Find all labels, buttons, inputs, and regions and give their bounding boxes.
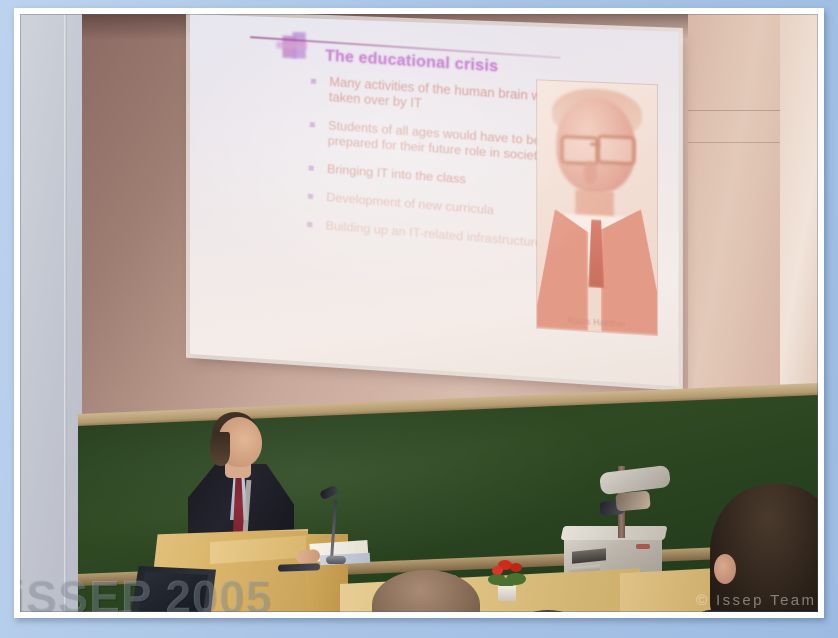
bullet-marker-icon [310,122,315,127]
wall-left [20,14,82,612]
audience-shoulder [692,610,818,612]
bullet-text: Development of new curricula [326,190,494,217]
slide-logo-icon [276,31,311,63]
marker-pen [278,563,320,571]
audience-ear [714,554,736,584]
photograph: The educational crisis Many activities o… [20,14,818,612]
projection-screen-area: The educational crisis Many activities o… [190,14,660,364]
flower-red [486,560,530,588]
speaker-hair-side [210,432,230,466]
overhead-projector-glass [561,526,668,540]
bullet-marker-icon [307,222,312,227]
watermark-bottom-left-highlight: iSSEP 2005 [20,570,272,612]
projector-lens-icon [615,491,650,512]
flower-pot-red [498,586,516,601]
bullet-text: Students of all ages would have to be pr… [328,118,544,163]
photo-page: The educational crisis Many activities o… [0,0,838,638]
slide-content: The educational crisis Many activities o… [190,14,679,386]
slide-portrait-image: Klaus Haefner [537,80,657,335]
projection-screen: The educational crisis Many activities o… [190,14,679,386]
wall-left-edge [64,14,67,612]
bullet-marker-icon [308,194,313,199]
bullet-text: Bringing IT into the class [327,162,466,187]
projector-power-indicator [636,544,650,549]
bullet-text: Building up an IT-related infrastructure [325,218,542,250]
watermark-bottom-right: © Issep Team [696,592,816,609]
bullet-marker-icon [311,79,316,84]
bullet-marker-icon [309,165,314,170]
microphone-base [326,556,346,564]
wall-far-right [780,14,818,444]
